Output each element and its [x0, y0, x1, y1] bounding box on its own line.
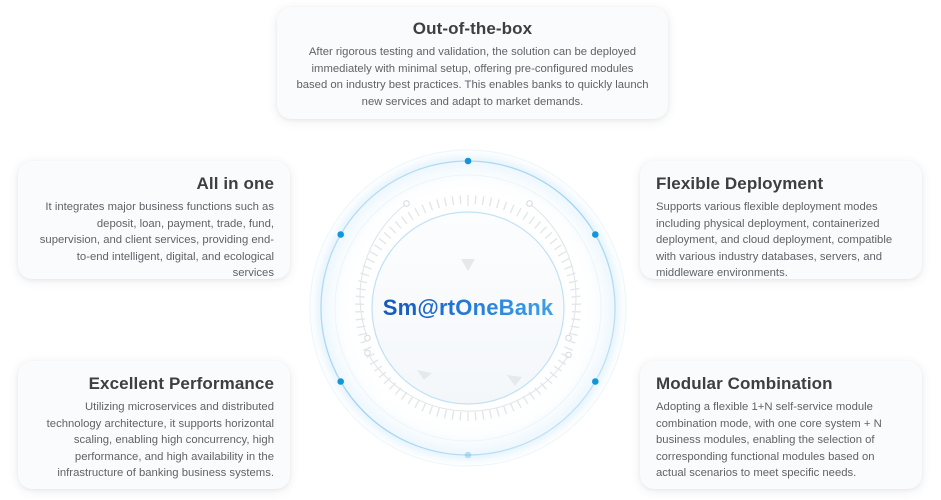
ring-dot-lower-left [337, 378, 344, 385]
arc-endpoint-upper-right [527, 201, 533, 207]
inner-disc [372, 212, 564, 404]
ring-dot-lower-right [592, 378, 599, 385]
feature-card-body: Adopting a flexible 1+N self-service mod… [656, 399, 906, 482]
feature-card-out-of-the-box[interactable]: Out-of-the-box After rigorous testing an… [277, 7, 668, 119]
arc-endpoint-upper-left [404, 201, 410, 207]
feature-card-title: Excellent Performance [34, 373, 274, 395]
feature-card-title: Flexible Deployment [656, 173, 906, 195]
feature-card-body: After rigorous testing and validation, t… [295, 44, 650, 110]
arc-endpoint-bottom-left [365, 350, 371, 356]
feature-card-excellent-performance[interactable]: Excellent Performance Utilizing microser… [18, 361, 290, 489]
feature-card-title: Out-of-the-box [295, 18, 650, 40]
feature-card-body: It integrates major business functions s… [34, 199, 274, 282]
feature-card-modular-combination[interactable]: Modular Combination Adopting a flexible … [640, 361, 922, 489]
ring-dot-upper-left [337, 231, 344, 238]
feature-card-body: Utilizing microservices and distributed … [34, 399, 274, 482]
feature-card-flexible-deployment[interactable]: Flexible Deployment Supports various fle… [640, 161, 922, 279]
ring-dot-top [465, 158, 472, 165]
feature-card-all-in-one[interactable]: All in one It integrates major business … [18, 161, 290, 279]
infographic-stage: Sm@rtOneBank Out-of-the-box After rigoro… [0, 0, 941, 500]
central-circle-graphic [303, 143, 633, 473]
feature-card-title: All in one [34, 173, 274, 195]
feature-card-body: Supports various flexible deployment mod… [656, 199, 906, 282]
ring-dot-bottom [465, 452, 472, 459]
feature-card-title: Modular Combination [656, 373, 906, 395]
ring-dot-upper-right [592, 231, 599, 238]
